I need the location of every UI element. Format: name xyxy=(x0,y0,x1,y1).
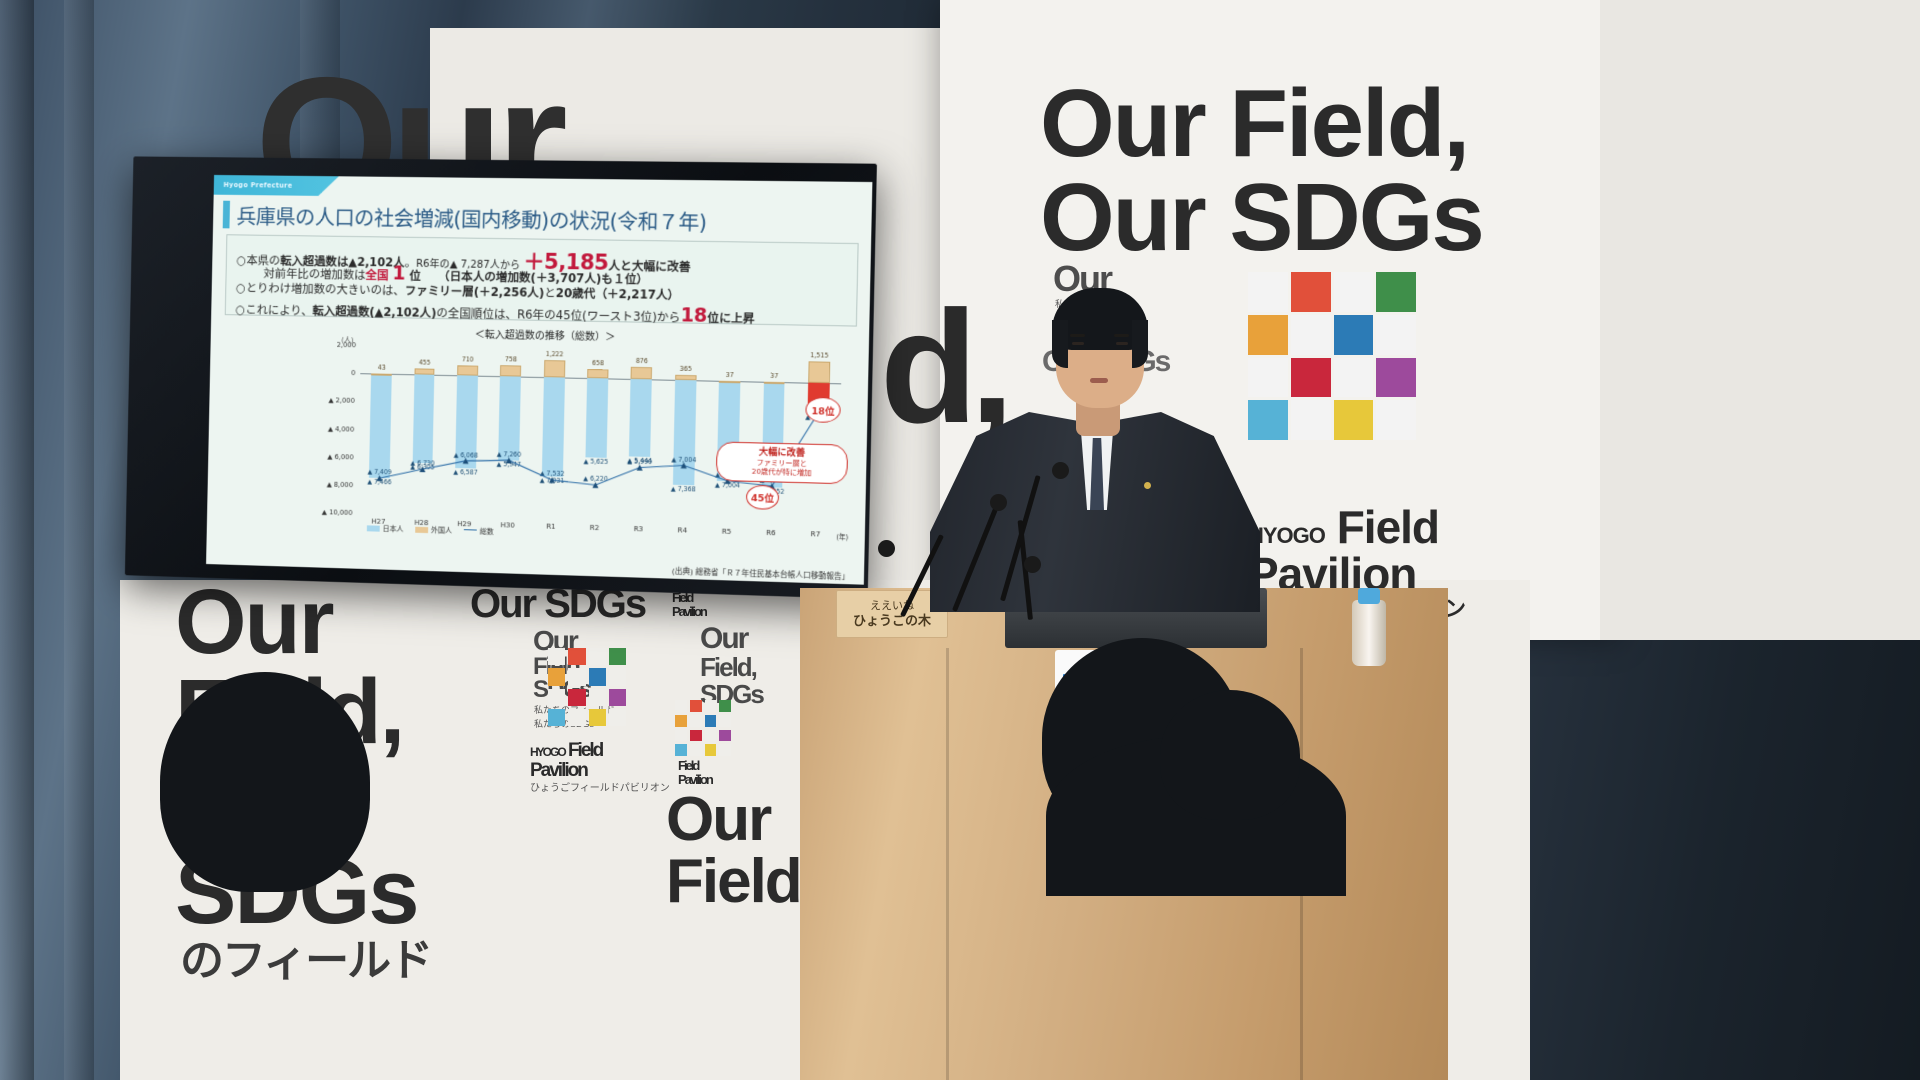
legend-label-japanese: 日本人 xyxy=(383,525,404,534)
bar-group: 1,222▲ 7,532▲ 7,031R1 xyxy=(529,349,576,520)
chart-area: ＜転入超過数の推移（総数）＞ (人) 2,0000▲ 2,000▲ 4,000▲… xyxy=(220,321,857,562)
line-value-label: ▲ 6,220 xyxy=(583,476,608,484)
annotation-improvement-box: 大幅に改善 ファミリー層と 20歳代が特に増加 xyxy=(716,441,848,484)
sdg-colour-grid-r xyxy=(675,700,731,756)
bar-japanese xyxy=(586,378,609,458)
legend-swatch-line xyxy=(464,529,477,530)
backdrop-field-big2: Field, xyxy=(666,852,816,912)
x-axis-tick-label: R4 xyxy=(677,526,687,534)
legend-label-foreign: 外国人 xyxy=(431,526,452,535)
bar-foreign xyxy=(414,368,435,375)
y-axis-tick-label: ▲ 8,000 xyxy=(327,480,354,489)
x-axis-tick-label: R6 xyxy=(766,529,776,537)
bullet-3-run-2: ファミリー層(＋2,256人) xyxy=(405,284,545,300)
backdrop-pavilion-tiny: Pavilion xyxy=(672,606,706,618)
bar-foreign xyxy=(457,365,478,375)
microphone-head xyxy=(878,540,895,557)
speaker-brow-right xyxy=(1114,334,1129,337)
microphone-head xyxy=(990,494,1007,511)
backdrop-pavilion-mid: Pavilion xyxy=(530,762,587,780)
bar-japanese xyxy=(542,377,565,477)
bar-value-label-positive: 710 xyxy=(462,357,474,364)
line-value-label: ▲ 6,068 xyxy=(454,452,478,460)
bullet-marker: ○ xyxy=(235,302,245,316)
y-axis-tick-label: ▲ 2,000 xyxy=(328,397,355,406)
line-value-label: ▲ 7,260 xyxy=(497,451,522,459)
bar-foreign xyxy=(371,373,392,375)
bullet-4-run-2: 転入超過数(▲2,102人) xyxy=(312,304,436,320)
bar-value-label-positive: 876 xyxy=(636,358,648,365)
bar-value-label-negative: ▲ 5,947 xyxy=(497,461,522,469)
bar-value-label-negative: ▲ 7,031 xyxy=(540,477,565,485)
annotation-box-sub2: 20歳代が特に増加 xyxy=(725,467,838,479)
line-value-label: ▲ 7,409 xyxy=(367,469,391,477)
backdrop-hyogo-field-mid: HYOGO Field xyxy=(530,742,602,760)
chart-legend: 日本人 外国人 総数 xyxy=(367,523,494,537)
y-axis-tick-label: 2,000 xyxy=(337,341,356,349)
bar-value-label-negative: ▲ 7,466 xyxy=(367,479,391,487)
bar-japanese xyxy=(369,374,392,479)
backdrop-field-tiny2: Field xyxy=(678,760,698,772)
bar-value-label-negative: ▲ 7,004 xyxy=(715,482,740,490)
slide-root: Hyogo Prefecture 兵庫県の人口の社会増減(国内移動)の状況(令和… xyxy=(206,175,872,585)
bar-foreign xyxy=(500,366,521,377)
water-bottle xyxy=(1352,600,1386,666)
legend-item-total: 総数 xyxy=(464,526,494,537)
bar-value-label-positive: 43 xyxy=(378,364,386,371)
bar-value-label-positive: 455 xyxy=(419,359,431,366)
bar-foreign xyxy=(763,381,784,383)
backdrop-our-r: Our xyxy=(700,625,747,654)
bullet-4-run-3: の全国順位は、R6年の45位(ワースト3位)から xyxy=(436,306,680,324)
bar-foreign xyxy=(808,361,830,383)
backdrop-bottom-our: Our xyxy=(175,578,333,666)
x-axis-tick-label: R5 xyxy=(722,528,732,536)
x-axis-tick-label: H30 xyxy=(500,521,514,529)
bar-value-label-positive: 1,515 xyxy=(810,352,828,359)
bar-foreign xyxy=(544,360,565,378)
bar-value-label-negative: ▲ 6,587 xyxy=(453,469,477,477)
backdrop-field-tiny: Field xyxy=(672,592,692,604)
audience-head xyxy=(1160,690,1300,820)
bar-group: 455▲ 6,730▲ 6,305H28 xyxy=(400,346,446,515)
wall-drape xyxy=(64,0,94,1080)
bar-group: 710▲ 6,068▲ 6,587H29 xyxy=(443,347,490,517)
backdrop-our-sdgs-1: Our SDGs xyxy=(1040,172,1483,264)
y-axis-tick-label: 0 xyxy=(351,369,355,377)
sdg-colour-grid-mid xyxy=(548,648,626,726)
bar-group: 43▲ 7,409▲ 7,466H27 xyxy=(357,345,403,514)
speaker-figure xyxy=(930,286,1260,606)
speaker-eye-right xyxy=(1116,342,1128,345)
legend-item-foreign: 外国人 xyxy=(415,525,452,536)
speaker-mouth xyxy=(1090,378,1108,383)
bullet-2-run-4: 位 xyxy=(405,269,421,283)
bar-value-label-positive: 1,222 xyxy=(546,351,564,358)
backdrop-field-r: Field, xyxy=(700,655,756,680)
slide-org-tab: Hyogo Prefecture xyxy=(214,175,339,196)
screenshot-root: Our d, Our Field, Our SDGs Our 私たちのフィールド… xyxy=(0,0,1920,1080)
bullet-3-run-4: 20歳代（＋2,217人） xyxy=(556,286,680,302)
slide-callout-box: ○本県の転入超過数は▲2,102人。R6年の▲ 7,287人から ＋5,185人… xyxy=(225,234,859,326)
line-value-label: ▲ 7,004 xyxy=(671,456,696,464)
backdrop-bottom-jp: のフィールド xyxy=(180,940,431,982)
speaker-hair-left xyxy=(1052,320,1068,368)
x-axis-tick-label: R1 xyxy=(546,523,556,531)
bar-value-label-negative: ▲ 5,625 xyxy=(584,459,609,467)
backdrop-banner-right xyxy=(1600,0,1920,640)
speaker-lapel-badge xyxy=(1144,482,1151,489)
legend-label-total: 総数 xyxy=(480,528,494,536)
bar-value-label-negative: ▲ 6,305 xyxy=(410,464,434,472)
water-bottle-cap xyxy=(1358,588,1380,604)
microphone-head xyxy=(1024,556,1041,573)
legend-swatch-orange xyxy=(415,527,428,533)
y-axis-tick-label: ▲ 10,000 xyxy=(322,508,353,517)
bar-value-label-positive: 37 xyxy=(770,372,778,379)
field-word-mid: Field xyxy=(568,740,602,761)
y-axis-tick-label: ▲ 4,000 xyxy=(328,425,355,434)
bullet-4-run-1: これにより、 xyxy=(245,303,312,318)
x-axis-unit-label: (年) xyxy=(836,531,848,542)
bar-foreign xyxy=(719,380,740,382)
bar-japanese xyxy=(412,374,434,463)
backdrop-our-big2: Our xyxy=(666,790,770,850)
bar-japanese xyxy=(673,380,696,485)
x-axis-tick-label: R3 xyxy=(634,525,644,533)
speaker-eye-left xyxy=(1072,342,1084,345)
bar-foreign xyxy=(587,369,608,379)
x-axis-tick-label: R2 xyxy=(590,524,600,532)
bar-value-label-positive: 365 xyxy=(680,366,692,373)
legend-item-japanese: 日本人 xyxy=(367,523,404,534)
bullet-marker: ○ xyxy=(236,253,246,267)
monitor-screen: Hyogo Prefecture 兵庫県の人口の社会増減(国内移動)の状況(令和… xyxy=(206,175,872,585)
backdrop-field-word: Field xyxy=(1337,501,1439,553)
bar-value-label-positive: 758 xyxy=(505,357,517,364)
bar-value-label-negative: ▲ 5,444 xyxy=(627,457,652,465)
bar-value-label-negative: ▲ 7,368 xyxy=(671,486,696,494)
page-title: 兵庫県の人口の社会増減(国内移動)の状況(令和７年) xyxy=(236,200,707,236)
backdrop-pavilion-jp-mid: ひょうごフィールドパビリオン xyxy=(530,784,670,794)
bar-foreign xyxy=(675,375,696,381)
podium-seam xyxy=(946,648,949,1080)
sdg-colour-grid xyxy=(1248,272,1416,440)
hyogo-prefix-mid: HYOGO xyxy=(530,745,565,759)
bullet-2-run-2: 全国 xyxy=(365,268,392,282)
bullet-4-run-4: 18 xyxy=(680,304,707,327)
y-axis-tick-label: ▲ 6,000 xyxy=(327,452,354,461)
speaker-brow-left xyxy=(1070,334,1085,337)
bar-foreign xyxy=(631,367,652,380)
microphone-head xyxy=(1052,462,1069,479)
bar-value-label-positive: 37 xyxy=(726,371,734,378)
bullet-marker: ○ xyxy=(236,281,246,295)
bar-group: 876▲ 5,990▲ 5,444R3 xyxy=(617,350,664,521)
bar-group: 658▲ 6,220▲ 5,625R2 xyxy=(573,350,620,521)
bullet-4-run-5: 位に上昇 xyxy=(707,311,755,326)
bar-japanese xyxy=(629,379,652,457)
bar-japanese xyxy=(499,376,522,460)
bar-value-label-positive: 658 xyxy=(592,360,604,367)
presentation-monitor: Hyogo Prefecture 兵庫県の人口の社会増減(国内移動)の状況(令和… xyxy=(125,156,877,599)
bullet-3-run-1: とりわけ増加数の大きいのは、 xyxy=(246,281,405,298)
x-axis-tick-label: R7 xyxy=(811,530,821,538)
backdrop-our-field-1: Our Field, xyxy=(1040,78,1468,170)
bar-group: 365▲ 7,004▲ 7,368R4 xyxy=(660,351,708,523)
title-accent-bar xyxy=(223,201,230,229)
legend-swatch-blue xyxy=(367,525,380,531)
bullet-3-run-3: と xyxy=(544,286,556,300)
bar-group: 1,515▲ 2,102▲ 2,102R7 xyxy=(793,354,841,527)
speaker-hair-right xyxy=(1132,320,1148,368)
bullet-2-run-3: 1 xyxy=(392,262,406,284)
backdrop-field-label: HYOGO Field xyxy=(1248,505,1439,549)
audience-head xyxy=(160,672,370,892)
chart-title: ＜転入超過数の推移（総数）＞ xyxy=(475,326,616,344)
wall-drape xyxy=(0,0,34,1080)
bar-group: 758▲ 7,260▲ 5,947H30 xyxy=(486,348,533,518)
slide-title-row: 兵庫県の人口の社会増減(国内移動)の状況(令和７年) xyxy=(223,200,707,236)
wood-sign-line2: ひょうごの木 xyxy=(853,613,931,629)
